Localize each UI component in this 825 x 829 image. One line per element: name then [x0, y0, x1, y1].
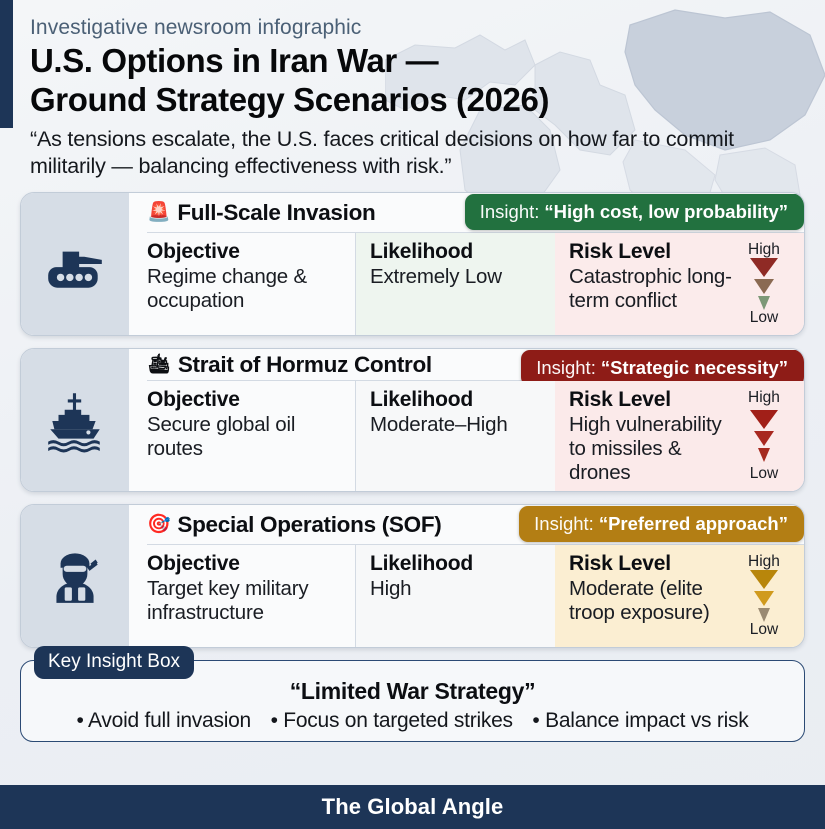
risk-value: Catastrophic long-term conflict: [569, 265, 740, 313]
objective-label: Objective: [147, 240, 343, 264]
accent-bar: [0, 0, 13, 128]
scenario-card[interactable]: 🚨 Full-Scale Invasion Insight: “High cos…: [20, 192, 805, 336]
objective-value: Secure global oil routes: [147, 413, 343, 461]
eyebrow-label: Investigative newsroom infographic: [30, 16, 799, 40]
objective-label: Objective: [147, 552, 343, 576]
likelihood-value: Extremely Low: [370, 265, 543, 289]
key-point: • Avoid full invasion: [77, 709, 252, 732]
page-title-line1: U.S. Options in Iran War —: [30, 42, 799, 81]
insight-lead: Insight:: [536, 357, 596, 379]
likelihood-value: High: [370, 577, 543, 601]
meter-segment-low: [758, 608, 770, 622]
card-title: 🛳 Strait of Hormuz Control: [147, 352, 432, 378]
key-point: • Focus on targeted strikes: [271, 709, 513, 732]
meter-segment-high: [750, 258, 778, 277]
likelihood-label: Likelihood: [370, 552, 543, 576]
risk-meter: High Low: [740, 552, 792, 641]
meter-low-label: Low: [750, 466, 778, 482]
card-title-text: Strait of Hormuz Control: [178, 352, 432, 378]
risk-column: Risk Level Catastrophic long-term confli…: [555, 233, 804, 335]
risk-label: Risk Level: [569, 240, 740, 264]
meter-segments: [750, 410, 778, 462]
soldier-icon: [42, 543, 108, 609]
card-icon-cell: [21, 505, 129, 647]
meter-segment-low: [758, 296, 770, 310]
card-header: 🛳 Strait of Hormuz Control Insight: “Str…: [129, 349, 804, 380]
card-body: 🎯 Special Operations (SOF) Insight: “Pre…: [129, 505, 804, 647]
insight-badge[interactable]: Insight: “High cost, low probability”: [465, 194, 804, 230]
risk-column: Risk Level High vulnerability to missile…: [555, 381, 804, 491]
target-icon: 🎯: [147, 515, 170, 534]
card-icon-cell: [21, 349, 129, 491]
footer-brand-text: The Global Angle: [322, 794, 504, 820]
likelihood-value: Moderate–High: [370, 413, 543, 437]
meter-high-label: High: [748, 390, 780, 406]
insight-lead: Insight:: [480, 201, 540, 223]
likelihood-label: Likelihood: [370, 388, 543, 412]
likelihood-column: Likelihood High: [355, 545, 555, 647]
meter-segment-mid: [754, 431, 774, 446]
objective-column: Objective Secure global oil routes: [147, 381, 355, 491]
subheadline: “As tensions escalate, the U.S. faces cr…: [30, 126, 799, 179]
insight-quote: “Strategic necessity”: [601, 357, 788, 379]
meter-low-label: Low: [750, 622, 778, 638]
card-header: 🎯 Special Operations (SOF) Insight: “Pre…: [129, 505, 804, 544]
meter-segment-high: [750, 570, 778, 589]
page-title: U.S. Options in Iran War — Ground Strate…: [30, 42, 799, 119]
insight-quote: “Preferred approach”: [599, 513, 788, 535]
objective-value: Target key military infrastructure: [147, 577, 343, 625]
insight-lead: Insight:: [534, 513, 594, 535]
likelihood-label: Likelihood: [370, 240, 543, 264]
key-insight-box: Key Insight Box “Limited War Strategy” •…: [20, 660, 805, 742]
warship-icon: [42, 387, 108, 453]
insight-badge[interactable]: Insight: “Preferred approach”: [519, 506, 804, 542]
scenario-card-list: 🚨 Full-Scale Invasion Insight: “High cos…: [0, 185, 825, 648]
card-body: 🛳 Strait of Hormuz Control Insight: “Str…: [129, 349, 804, 491]
card-title: 🚨 Full-Scale Invasion: [147, 200, 375, 226]
risk-text: Risk Level Moderate (elite troop exposur…: [569, 552, 740, 641]
key-insight-tag: Key Insight Box: [34, 646, 194, 679]
risk-value: High vulnerability to missiles & drones: [569, 413, 740, 485]
meter-segment-low: [758, 448, 770, 462]
risk-label: Risk Level: [569, 388, 740, 412]
scenario-card[interactable]: 🛳 Strait of Hormuz Control Insight: “Str…: [20, 348, 805, 492]
key-point: • Balance impact vs risk: [532, 709, 748, 732]
scenario-card[interactable]: 🎯 Special Operations (SOF) Insight: “Pre…: [20, 504, 805, 648]
objective-label: Objective: [147, 388, 343, 412]
card-title-text: Full-Scale Invasion: [177, 200, 375, 226]
meter-segment-mid: [754, 591, 774, 606]
page-title-line2: Ground Strategy Scenarios (2026): [30, 81, 799, 120]
risk-value: Moderate (elite troop exposure): [569, 577, 740, 625]
objective-column: Objective Regime change & occupation: [147, 233, 355, 335]
header: Investigative newsroom infographic U.S. …: [0, 0, 825, 185]
likelihood-column: Likelihood Moderate–High: [355, 381, 555, 491]
key-insight-title: “Limited War Strategy”: [21, 678, 804, 705]
meter-segments: [750, 570, 778, 622]
card-columns: Objective Target key military infrastruc…: [147, 544, 804, 647]
siren-icon: 🚨: [147, 203, 170, 222]
risk-text: Risk Level Catastrophic long-term confli…: [569, 240, 740, 329]
meter-high-label: High: [748, 554, 780, 570]
infographic-page: Investigative newsroom infographic U.S. …: [0, 0, 825, 829]
meter-segment-high: [750, 410, 778, 429]
meter-segment-mid: [754, 279, 774, 294]
likelihood-column: Likelihood Extremely Low: [355, 233, 555, 335]
card-title: 🎯 Special Operations (SOF): [147, 512, 441, 538]
objective-column: Objective Target key military infrastruc…: [147, 545, 355, 647]
card-icon-cell: [21, 193, 129, 335]
risk-meter: High Low: [740, 388, 792, 485]
passenger-ship-icon: 🛳: [147, 355, 171, 374]
tank-icon: [42, 231, 108, 297]
risk-column: Risk Level Moderate (elite troop exposur…: [555, 545, 804, 647]
card-columns: Objective Secure global oil routes Likel…: [147, 380, 804, 491]
risk-label: Risk Level: [569, 552, 740, 576]
objective-value: Regime change & occupation: [147, 265, 343, 313]
meter-segments: [750, 258, 778, 310]
card-header: 🚨 Full-Scale Invasion Insight: “High cos…: [129, 193, 804, 232]
risk-meter: High Low: [740, 240, 792, 329]
meter-low-label: Low: [750, 310, 778, 326]
meter-high-label: High: [748, 242, 780, 258]
footer-brand-bar: The Global Angle: [0, 785, 825, 829]
insight-quote: “High cost, low probability”: [544, 201, 788, 223]
card-body: 🚨 Full-Scale Invasion Insight: “High cos…: [129, 193, 804, 335]
card-columns: Objective Regime change & occupation Lik…: [147, 232, 804, 335]
risk-text: Risk Level High vulnerability to missile…: [569, 388, 740, 485]
card-title-text: Special Operations (SOF): [177, 512, 441, 538]
key-insight-points: • Avoid full invasion • Focus on targete…: [21, 709, 804, 733]
